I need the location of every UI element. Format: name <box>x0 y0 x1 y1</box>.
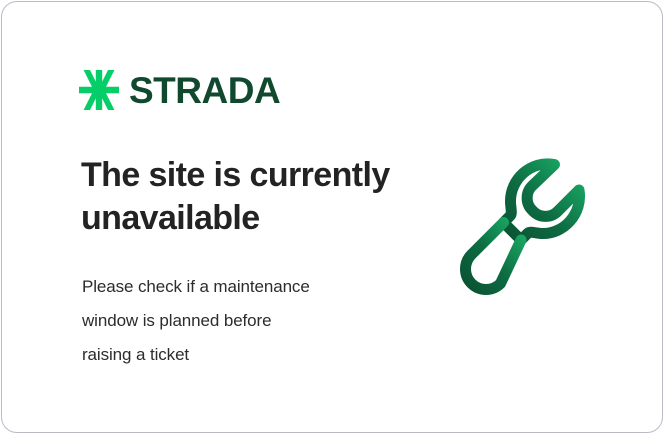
status-description: Please check if a maintenance window is … <box>82 270 402 372</box>
status-card: STRADA The site is currently unavailable… <box>1 1 663 433</box>
status-description-line: window is planned before <box>82 304 402 338</box>
wrench-icon <box>457 154 617 314</box>
page-title: The site is currently unavailable <box>81 154 411 240</box>
brand-wordmark: STRADA <box>129 72 280 109</box>
strada-asterisk-icon <box>79 70 119 110</box>
status-description-line: raising a ticket <box>82 338 402 372</box>
status-description-line: Please check if a maintenance <box>82 270 402 304</box>
brand-lockup: STRADA <box>79 70 280 110</box>
